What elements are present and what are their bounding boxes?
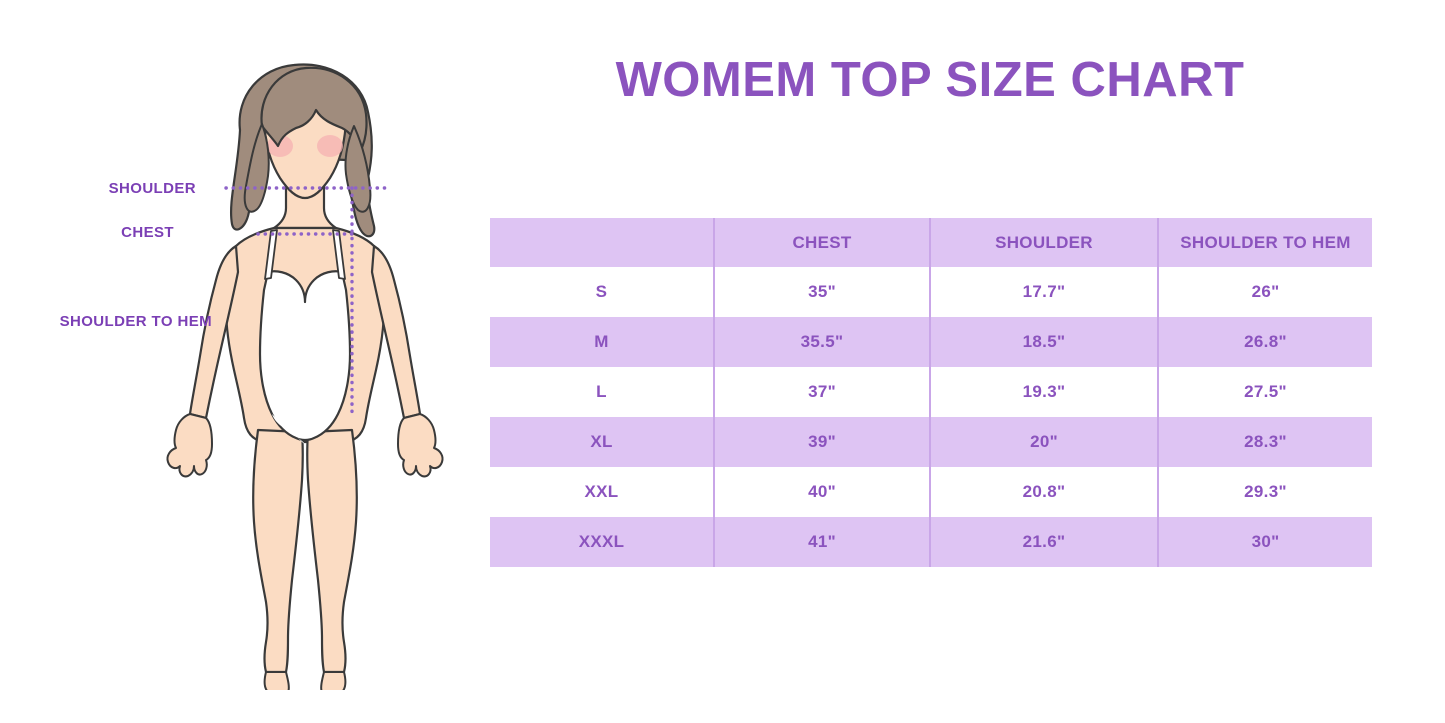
table-row: XL39"20"28.3" [490, 417, 1372, 467]
cell-size: S [490, 267, 714, 317]
cell-shoulder-to-hem: 26" [1158, 267, 1372, 317]
hand-left-icon [167, 414, 212, 476]
cell-shoulder: 18.5" [930, 317, 1158, 367]
female-body-illustration [140, 40, 470, 690]
cell-shoulder: 20.8" [930, 467, 1158, 517]
cell-shoulder-to-hem: 29.3" [1158, 467, 1372, 517]
table-row: M35.5"18.5"26.8" [490, 317, 1372, 367]
garment-bodysuit-icon [260, 271, 350, 440]
cell-chest: 37" [714, 367, 930, 417]
foot-right-icon [321, 672, 345, 690]
cell-size: XL [490, 417, 714, 467]
cell-size: XXXL [490, 517, 714, 567]
table-header-chest: CHEST [714, 218, 930, 267]
leg-right-icon [307, 430, 357, 672]
cell-shoulder: 20" [930, 417, 1158, 467]
table-header-shoulder-to-hem: SHOULDER TO HEM [1158, 218, 1372, 267]
size-chart-table: CHEST SHOULDER SHOULDER TO HEM S35"17.7"… [490, 218, 1372, 567]
table-row: XXXL41"21.6"30" [490, 517, 1372, 567]
cell-shoulder: 17.7" [930, 267, 1158, 317]
leg-left-icon [253, 430, 303, 672]
cell-shoulder: 21.6" [930, 517, 1158, 567]
cell-size: XXL [490, 467, 714, 517]
table-row: L37"19.3"27.5" [490, 367, 1372, 417]
table-header-size [490, 218, 714, 267]
table-body: S35"17.7"26"M35.5"18.5"26.8"L37"19.3"27.… [490, 267, 1372, 567]
cell-size: L [490, 367, 714, 417]
table-row: XXL40"20.8"29.3" [490, 467, 1372, 517]
cell-size: M [490, 317, 714, 367]
table-header-row: CHEST SHOULDER SHOULDER TO HEM [490, 218, 1372, 267]
table-header-shoulder: SHOULDER [930, 218, 1158, 267]
cell-shoulder-to-hem: 26.8" [1158, 317, 1372, 367]
cell-chest: 35" [714, 267, 930, 317]
cell-shoulder-to-hem: 30" [1158, 517, 1372, 567]
table-row: S35"17.7"26" [490, 267, 1372, 317]
cell-shoulder-to-hem: 28.3" [1158, 417, 1372, 467]
cell-shoulder: 19.3" [930, 367, 1158, 417]
hand-right-icon [398, 414, 443, 476]
cell-shoulder-to-hem: 27.5" [1158, 367, 1372, 417]
foot-left-icon [265, 672, 289, 690]
measure-label-shoulder-to-hem: SHOULDER TO HEM [0, 313, 212, 330]
cell-chest: 35.5" [714, 317, 930, 367]
cell-chest: 41" [714, 517, 930, 567]
cell-chest: 39" [714, 417, 930, 467]
blush-right-icon [317, 135, 343, 157]
body-figure-svg [140, 40, 470, 690]
measure-label-chest: CHEST [0, 224, 174, 241]
measure-label-shoulder: SHOULDER [0, 180, 196, 197]
cell-chest: 40" [714, 467, 930, 517]
page-title: WOMEM TOP SIZE CHART [487, 52, 1373, 108]
